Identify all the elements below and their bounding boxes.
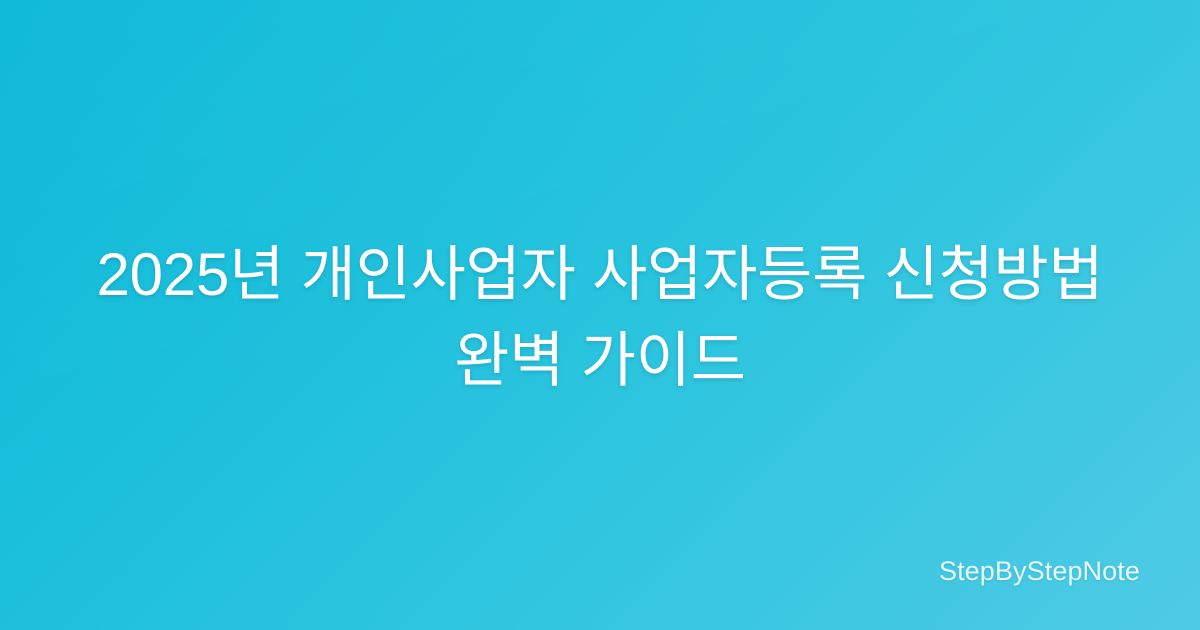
brand-watermark: StepByStepNote [939,556,1140,586]
title-line-2: 완벽 가이드 [60,318,1140,404]
title-line-1: 2025년 개인사업자 사업자등록 신청방법 [60,232,1140,318]
social-card: 2025년 개인사업자 사업자등록 신청방법 완벽 가이드 StepByStep… [0,0,1200,630]
page-title: 2025년 개인사업자 사업자등록 신청방법 완벽 가이드 [0,232,1200,404]
